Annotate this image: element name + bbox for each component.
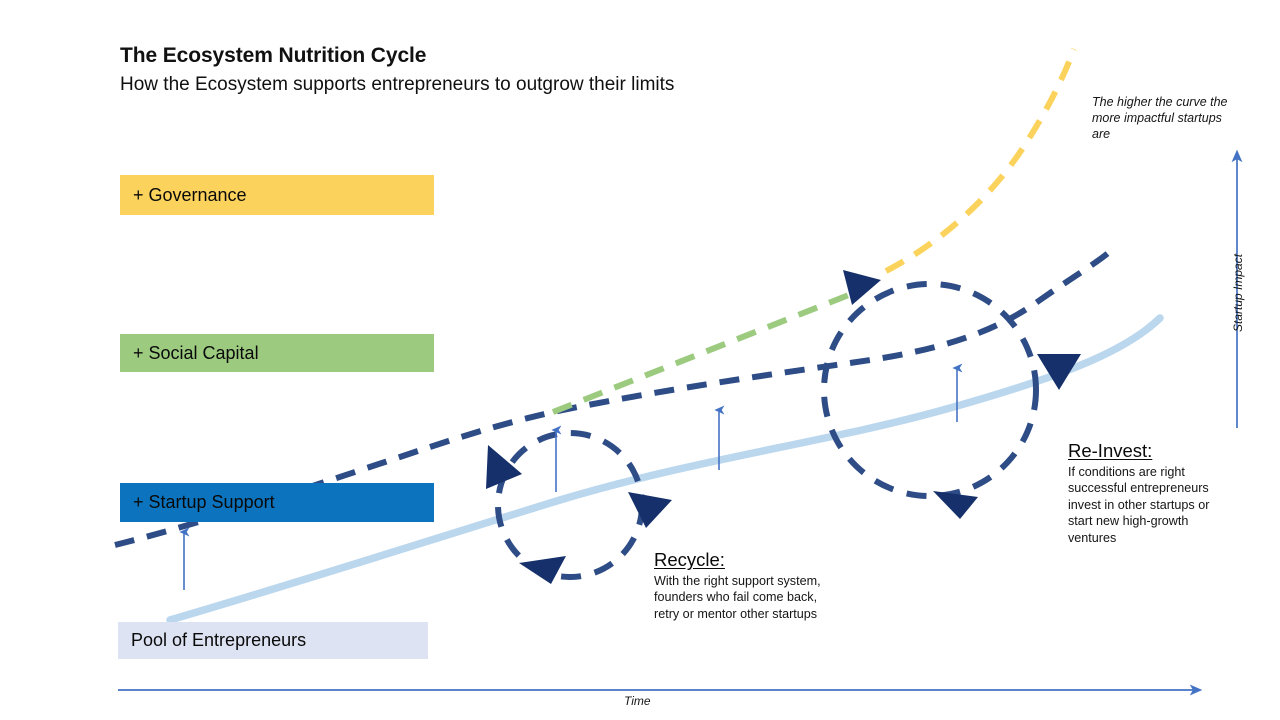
band-startup-support[interactable]: + Startup Support xyxy=(120,483,434,522)
callout-recycle-title: Recycle: xyxy=(654,549,824,571)
curve-impact-note: The higher the curve the more impactful … xyxy=(1092,94,1242,142)
callout-reinvest: Re-Invest: If conditions are right succe… xyxy=(1068,440,1228,546)
slide-canvas: The Ecosystem Nutrition Cycle How the Ec… xyxy=(0,0,1280,720)
cycle-reinvest-loop xyxy=(824,270,1081,519)
curve-social-capital xyxy=(553,287,869,412)
axis-label-startup-impact: Startup Impact xyxy=(1231,254,1245,332)
band-social-capital-label: + Social Capital xyxy=(133,343,259,364)
callout-recycle: Recycle: With the right support system, … xyxy=(654,549,824,622)
callout-reinvest-body: If conditions are right successful entre… xyxy=(1068,464,1228,546)
page-title: The Ecosystem Nutrition Cycle xyxy=(120,44,426,68)
band-governance-label: + Governance xyxy=(133,185,247,206)
band-pool-of-entrepreneurs[interactable]: Pool of Entrepreneurs xyxy=(118,622,428,659)
band-pool-of-entrepreneurs-label: Pool of Entrepreneurs xyxy=(131,630,306,651)
callout-recycle-body: With the right support system, founders … xyxy=(654,573,824,622)
band-startup-support-label: + Startup Support xyxy=(133,492,275,513)
axis-label-time: Time xyxy=(624,694,651,708)
callout-reinvest-title: Re-Invest: xyxy=(1068,440,1228,462)
curve-governance xyxy=(886,49,1074,271)
cycle-recycle-loop xyxy=(486,433,672,584)
band-governance[interactable]: + Governance xyxy=(120,175,434,215)
band-social-capital[interactable]: + Social Capital xyxy=(120,334,434,372)
page-subtitle: How the Ecosystem supports entrepreneurs… xyxy=(120,74,674,96)
